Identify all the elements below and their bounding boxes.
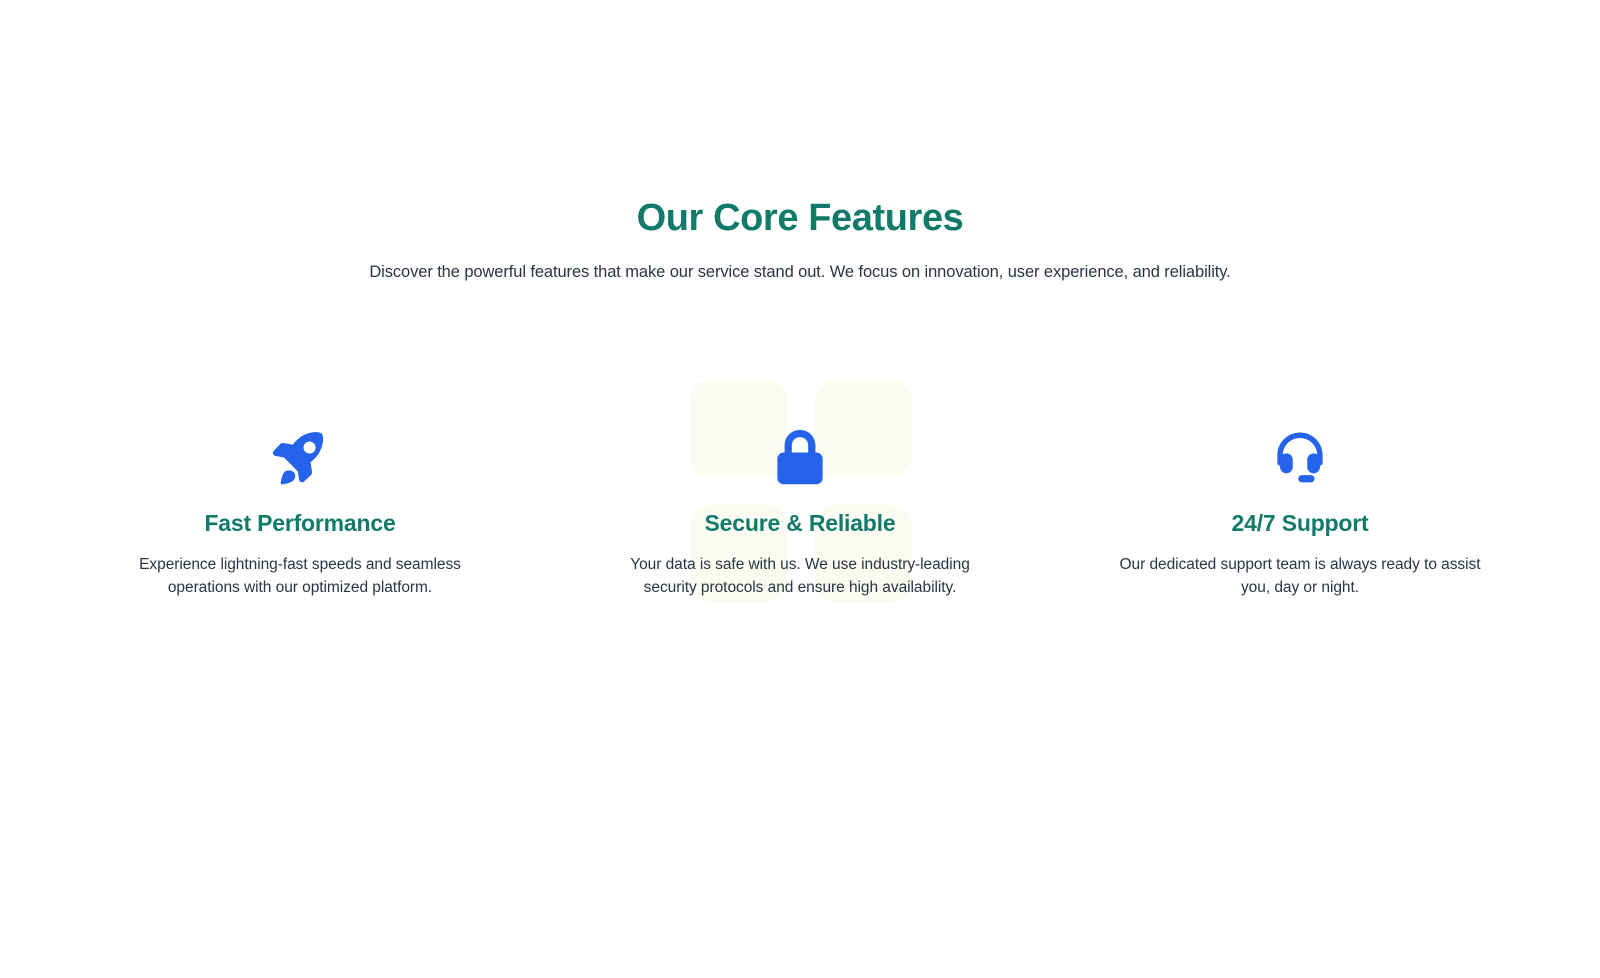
feature-card-support[interactable]: 24/7 Support Our dedicated support team … <box>1100 425 1500 599</box>
feature-card-fast-performance[interactable]: Fast Performance Experience lightning-fa… <box>100 425 500 599</box>
feature-title: 24/7 Support <box>1100 507 1500 539</box>
feature-description: Your data is safe with us. We use indust… <box>600 539 1000 599</box>
page-subtitle: Discover the powerful features that make… <box>0 244 1600 284</box>
lock-icon <box>600 425 1000 489</box>
feature-title: Fast Performance <box>100 507 500 539</box>
feature-description: Our dedicated support team is always rea… <box>1100 539 1500 599</box>
page-title: Our Core Features <box>0 0 1600 244</box>
rocket-icon <box>100 425 500 489</box>
feature-title: Secure & Reliable <box>600 507 1000 539</box>
feature-card-list: Fast Performance Experience lightning-fa… <box>100 425 1500 599</box>
headset-icon <box>1100 425 1500 489</box>
feature-card-secure-reliable[interactable]: Secure & Reliable Your data is safe with… <box>600 425 1000 599</box>
feature-section-page: Our Core Features Discover the powerful … <box>0 0 1600 978</box>
section-header: Our Core Features Discover the powerful … <box>0 0 1600 284</box>
feature-description: Experience lightning-fast speeds and sea… <box>100 539 500 599</box>
